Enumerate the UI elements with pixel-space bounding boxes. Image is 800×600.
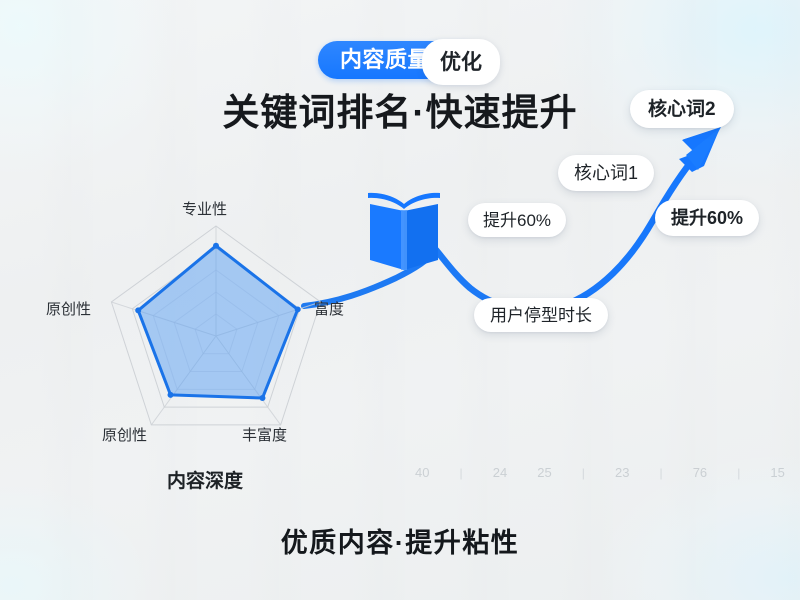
scale-item-5: 23 [615, 466, 629, 479]
radar-chart: 专业性 富度 丰富度 原创性 原创性 [46, 196, 386, 466]
badge-label: 内容质量 [340, 49, 430, 71]
scale-item-9: 15 [770, 466, 784, 479]
pill-keyword-2-label: 核心词2 [648, 100, 716, 119]
scale-item-2: 24 [493, 466, 507, 479]
scale-strip: 40 | 24 25 | 23 | 76 | 15 [415, 466, 785, 479]
scale-item-7: 76 [693, 466, 707, 479]
pill-keyword-1[interactable]: 核心词1 [558, 155, 654, 191]
pill-uplift-right[interactable]: 提升60% [655, 200, 759, 236]
scale-item-3: 25 [537, 466, 551, 479]
badge-container: 内容质量 优化 [0, 41, 800, 79]
radar-axis-label-bottom-right: 丰富度 [242, 428, 287, 443]
content-quality-badge[interactable]: 内容质量 优化 [318, 41, 482, 79]
pill-dwell-time-label: 用户停型时长 [490, 307, 592, 324]
poster-canvas: 内容质量 优化 关键词排名·快速提升 [0, 0, 800, 600]
pill-dwell-time[interactable]: 用户停型时长 [474, 298, 608, 332]
optimize-chip-label: 优化 [440, 52, 482, 73]
radar-axis-label-right: 富度 [314, 302, 344, 317]
pill-keyword-1-label: 核心词1 [574, 164, 638, 182]
radar-caption: 内容深度 [167, 466, 243, 493]
radar-axis-label-bottom-left: 原创性 [102, 428, 147, 443]
scale-item-4: | [582, 467, 585, 479]
pill-uplift-left-label: 提升60% [483, 212, 551, 229]
scale-item-1: | [460, 467, 463, 479]
footer-caption: 优质内容·提升粘性 [0, 521, 800, 560]
pill-uplift-left[interactable]: 提升60% [468, 203, 566, 237]
scale-item-0: 40 [415, 466, 429, 479]
scale-item-6: | [660, 467, 663, 479]
optimize-chip[interactable]: 优化 [422, 39, 500, 85]
radar-axis-label-top: 专业性 [182, 202, 227, 217]
scale-item-8: | [737, 467, 740, 479]
radar-axis-label-left: 原创性 [46, 302, 91, 317]
pill-keyword-2[interactable]: 核心词2 [630, 90, 734, 128]
pill-uplift-right-label: 提升60% [671, 209, 743, 227]
